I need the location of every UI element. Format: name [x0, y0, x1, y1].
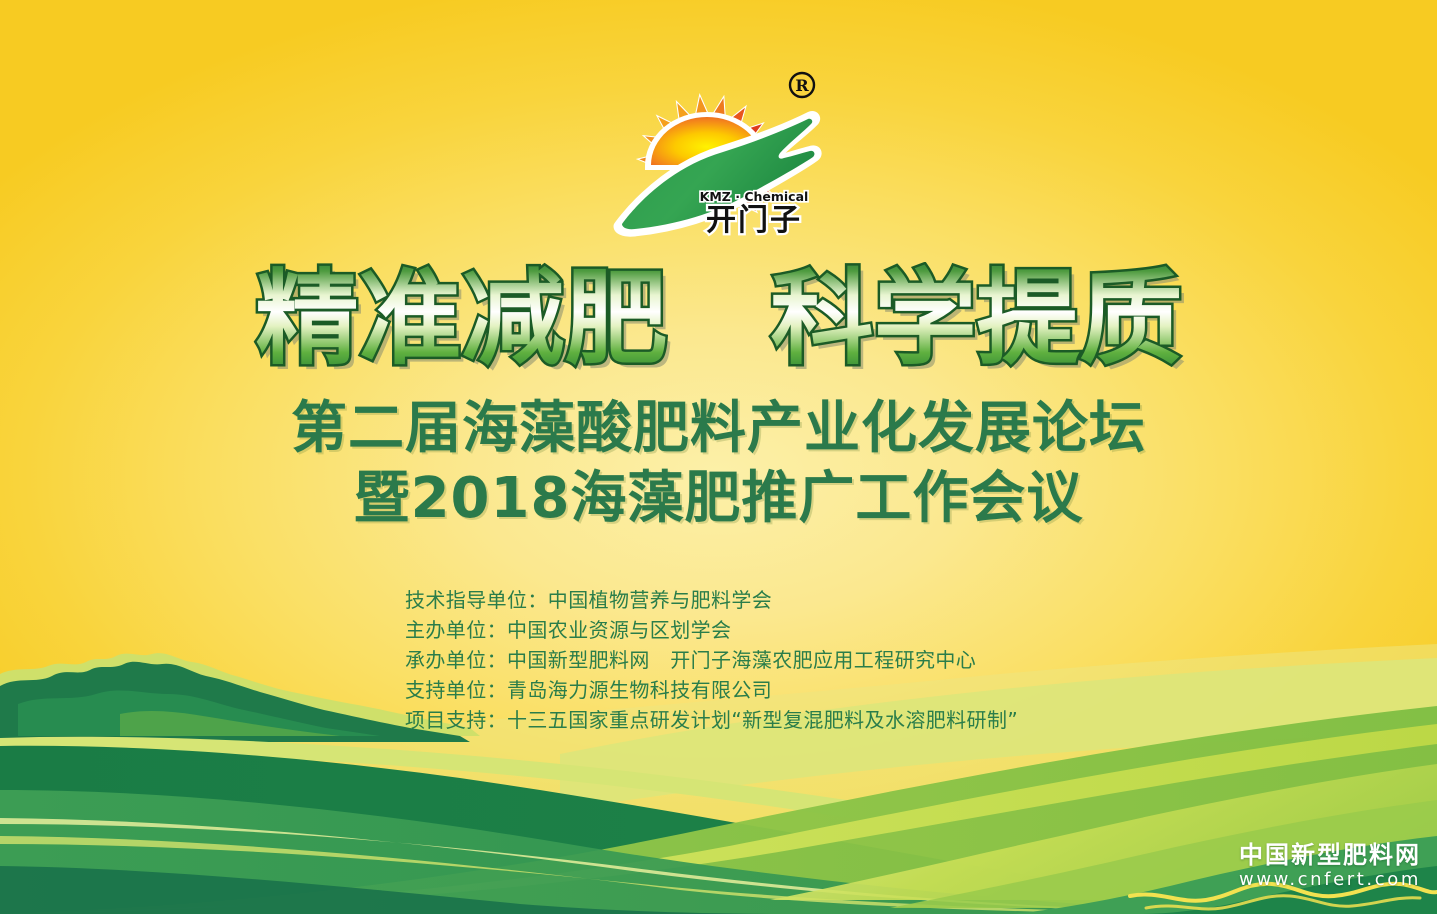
detail-row-project-support: 项目支持：十三五国家重点研发计划“新型复混肥料及水溶肥料研制”: [405, 705, 1018, 735]
svg-text:R: R: [795, 76, 809, 95]
detail-row-host-unit: 主办单位：中国农业资源与区划学会: [405, 615, 1018, 645]
detail-row-organizer-unit: 承办单位：中国新型肥料网 开门子海藻农肥应用工程研究中心: [405, 645, 1018, 675]
subtitle-line-1: 第二届海藻酸肥料产业化发展论坛: [0, 398, 1437, 460]
watermark-site-url: www.cnfert.com: [1239, 871, 1421, 890]
detail-row-technical-guidance: 技术指导单位：中国植物营养与肥料学会: [405, 585, 1018, 615]
conference-poster: KMZ · Chemical 开门子 R: [0, 0, 1437, 914]
registered-mark-icon: R: [790, 73, 814, 97]
logo-latin-text: KMZ · Chemical: [699, 189, 808, 204]
logo-cn-text: 开门子: [706, 203, 802, 238]
poster-subtitle: 第二届海藻酸肥料产业化发展论坛 暨2018海藻肥推广工作会议: [0, 398, 1437, 530]
detail-row-support-unit: 支持单位：青岛海力源生物科技有限公司: [405, 675, 1018, 705]
organizer-details: 技术指导单位：中国植物营养与肥料学会 主办单位：中国农业资源与区划学会 承办单位…: [405, 585, 1018, 735]
poster-headline: 精准减肥 科学提质 精准减肥 科学提质: [0, 262, 1437, 387]
subtitle-line-2: 暨2018海藻肥推广工作会议: [0, 468, 1437, 530]
watermark-site-name: 中国新型肥料网: [1239, 843, 1421, 868]
headline-text: 精准减肥 科学提质: [255, 262, 1182, 379]
site-watermark: 中国新型肥料网 www.cnfert.com: [1239, 843, 1421, 890]
brand-logo: KMZ · Chemical 开门子 R: [604, 58, 834, 243]
